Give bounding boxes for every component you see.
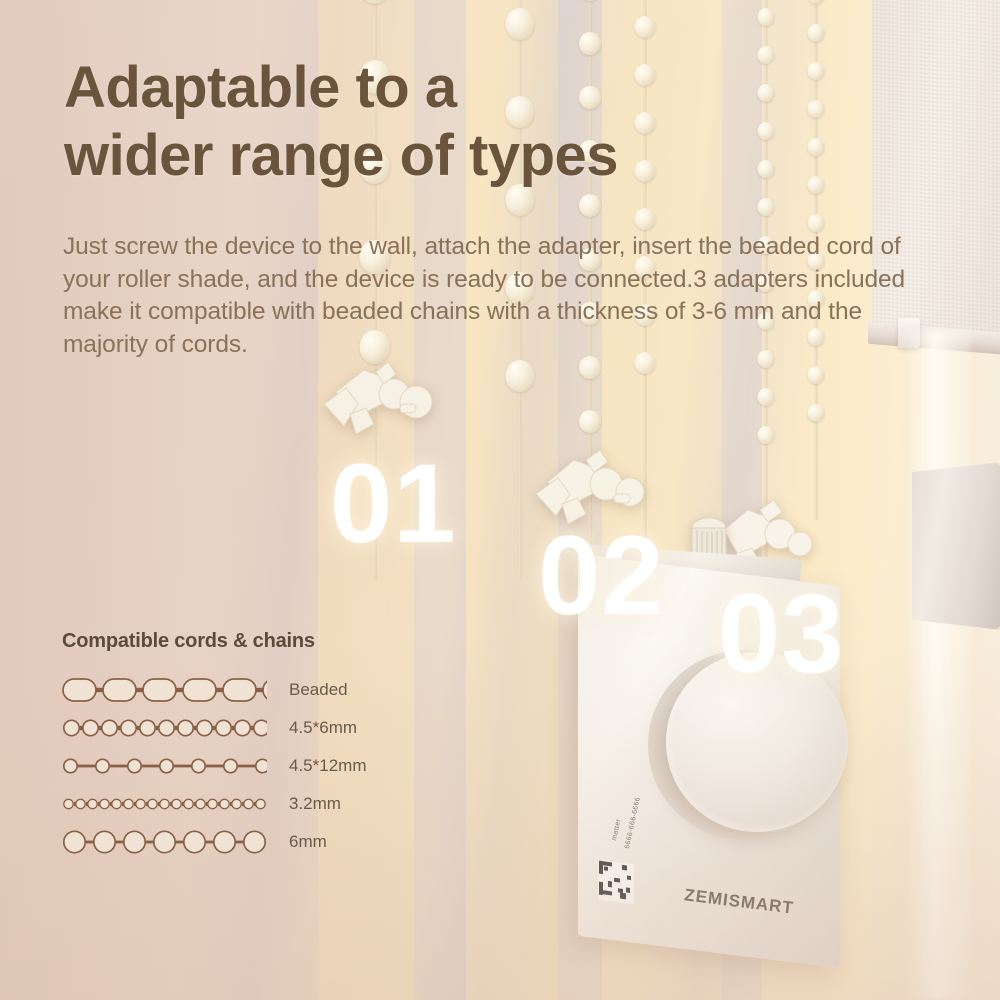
legend-label: 6mm: [289, 832, 327, 852]
description-paragraph: Just screw the device to the wall, attac…: [63, 231, 915, 361]
chain-bead: [808, 24, 825, 42]
chain-large-bead-icon: [62, 829, 267, 855]
chain-bead: [808, 100, 825, 118]
product-marketing-image: matter 6666-666-6666 ZEMISMART 01 02 03 …: [0, 0, 1000, 1000]
chain-bead: [579, 410, 601, 433]
chain-micro-bead-icon: [62, 791, 267, 817]
legend-row: 3.2mm: [62, 785, 366, 823]
headline-line-1: Adaptable to a: [64, 55, 457, 120]
chain-bead: [808, 176, 825, 194]
step-number-01: 01: [330, 448, 457, 560]
chain-bead: [506, 360, 535, 392]
chain-bead: [808, 366, 825, 384]
chain-bead: [635, 112, 656, 134]
legend-label: 3.2mm: [289, 794, 341, 814]
chain-bead: [758, 426, 775, 444]
chain-bead: [808, 404, 825, 422]
chain-bead: [808, 138, 825, 156]
chain-oval-linked-icon: [62, 677, 267, 703]
chain-bead: [579, 194, 601, 217]
chain-bead: [808, 62, 825, 80]
qr-code-icon: [598, 859, 634, 904]
page-title: Adaptable to a wider range of types: [64, 54, 618, 190]
legend-label: Beaded: [289, 680, 348, 700]
chain-bead: [758, 8, 775, 26]
step-number-02: 02: [538, 520, 665, 632]
compatible-cords-legend: Compatible cords & chains Beaded4.5*6mm4…: [62, 630, 366, 861]
legend-row: 4.5*6mm: [62, 709, 366, 747]
chain-bead: [758, 198, 775, 216]
legend-title: Compatible cords & chains: [62, 630, 366, 653]
step-number-03: 03: [718, 578, 845, 690]
window-light-column: [905, 330, 971, 1000]
legend-row: 4.5*12mm: [62, 747, 366, 785]
legend-rows: Beaded4.5*6mm4.5*12mm3.2mm6mm: [62, 671, 366, 861]
chain-bead: [579, 32, 601, 55]
legend-label: 4.5*6mm: [289, 718, 357, 738]
chain-adapter-01: [316, 352, 438, 444]
chain-bead: [758, 388, 775, 406]
headline-line-2: wider range of types: [64, 123, 618, 188]
chain-bead: [635, 160, 656, 182]
chain-bead: [758, 46, 775, 64]
chain-bead: [758, 122, 775, 140]
chain-round-dense-icon: [62, 715, 267, 741]
chain-bead: [808, 214, 825, 232]
chain-bead: [635, 208, 656, 230]
legend-row: Beaded: [62, 671, 366, 709]
chain-round-spaced-icon: [62, 753, 267, 779]
chain-bead: [635, 16, 656, 38]
chain-bead: [758, 84, 775, 102]
legend-row: 6mm: [62, 823, 366, 861]
chain-bead: [506, 8, 535, 40]
chain-bead: [758, 160, 775, 178]
chain-bead: [635, 64, 656, 86]
legend-label: 4.5*12mm: [289, 756, 366, 776]
wall-sconce: [912, 462, 1000, 630]
